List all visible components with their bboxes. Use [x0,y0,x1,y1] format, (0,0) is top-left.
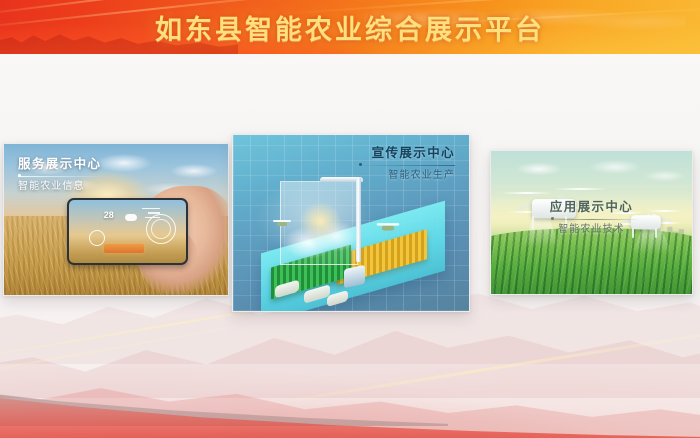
card-publicity-title: 宣传展示中心 [359,147,455,161]
cloud-icon [636,168,692,184]
glass-display-panel [280,181,358,265]
card-service-title: 服务展示中心 [18,158,104,172]
smartphone-device: 28 [67,198,188,264]
weather-cloud-icon [125,214,137,221]
hud-bar [142,208,160,210]
card-publicity-artwork: 宣传展示中心 智能农业生产 [233,135,469,311]
hud-bar [148,212,160,214]
card-service-caption: 服务展示中心 智能农业信息 [18,158,104,192]
caption-divider [18,176,104,177]
card-publicity-caption: 宣传展示中心 智能农业生产 [359,147,455,181]
cloud-icon [507,160,571,178]
caption-divider [359,165,455,166]
card-service-display-center[interactable]: 28 服务展示中心 智能农业信息 [3,143,229,296]
panel-sky-scene [281,182,357,264]
caption-divider [545,219,639,220]
drone-rotor [501,192,552,194]
drone-rotor [554,188,607,190]
card-service-artwork: 28 服务展示中心 智能农业信息 [4,144,228,295]
hud-bar [145,217,160,219]
page-title: 如东县智能农业综合展示平台 [0,0,700,54]
lamp-pole [356,177,361,261]
hud-status-strip [104,244,144,253]
page-root: 如东县智能农业综合展示平台 28 [0,0,700,438]
hud-ring-icon [89,230,105,246]
drone-icon [377,222,400,233]
card-application-display-center[interactable]: 应用展示中心 智能农业技术 [490,150,693,295]
drone-icon [273,219,291,228]
hud-ring-icon [146,214,176,244]
card-application-subtitle: 智能农业技术 [491,224,692,235]
card-publicity-display-center[interactable]: 宣传展示中心 智能农业生产 [232,134,470,312]
card-application-caption: 应用展示中心 智能农业技术 [491,201,692,235]
card-publicity-subtitle: 智能农业生产 [359,170,455,181]
card-application-title: 应用展示中心 [491,201,692,215]
cloud-icon [161,161,227,181]
temperature-readout: 28 [104,210,114,220]
card-application-artwork: 应用展示中心 智能农业技术 [491,151,692,294]
card-service-subtitle: 智能农业信息 [18,181,104,192]
